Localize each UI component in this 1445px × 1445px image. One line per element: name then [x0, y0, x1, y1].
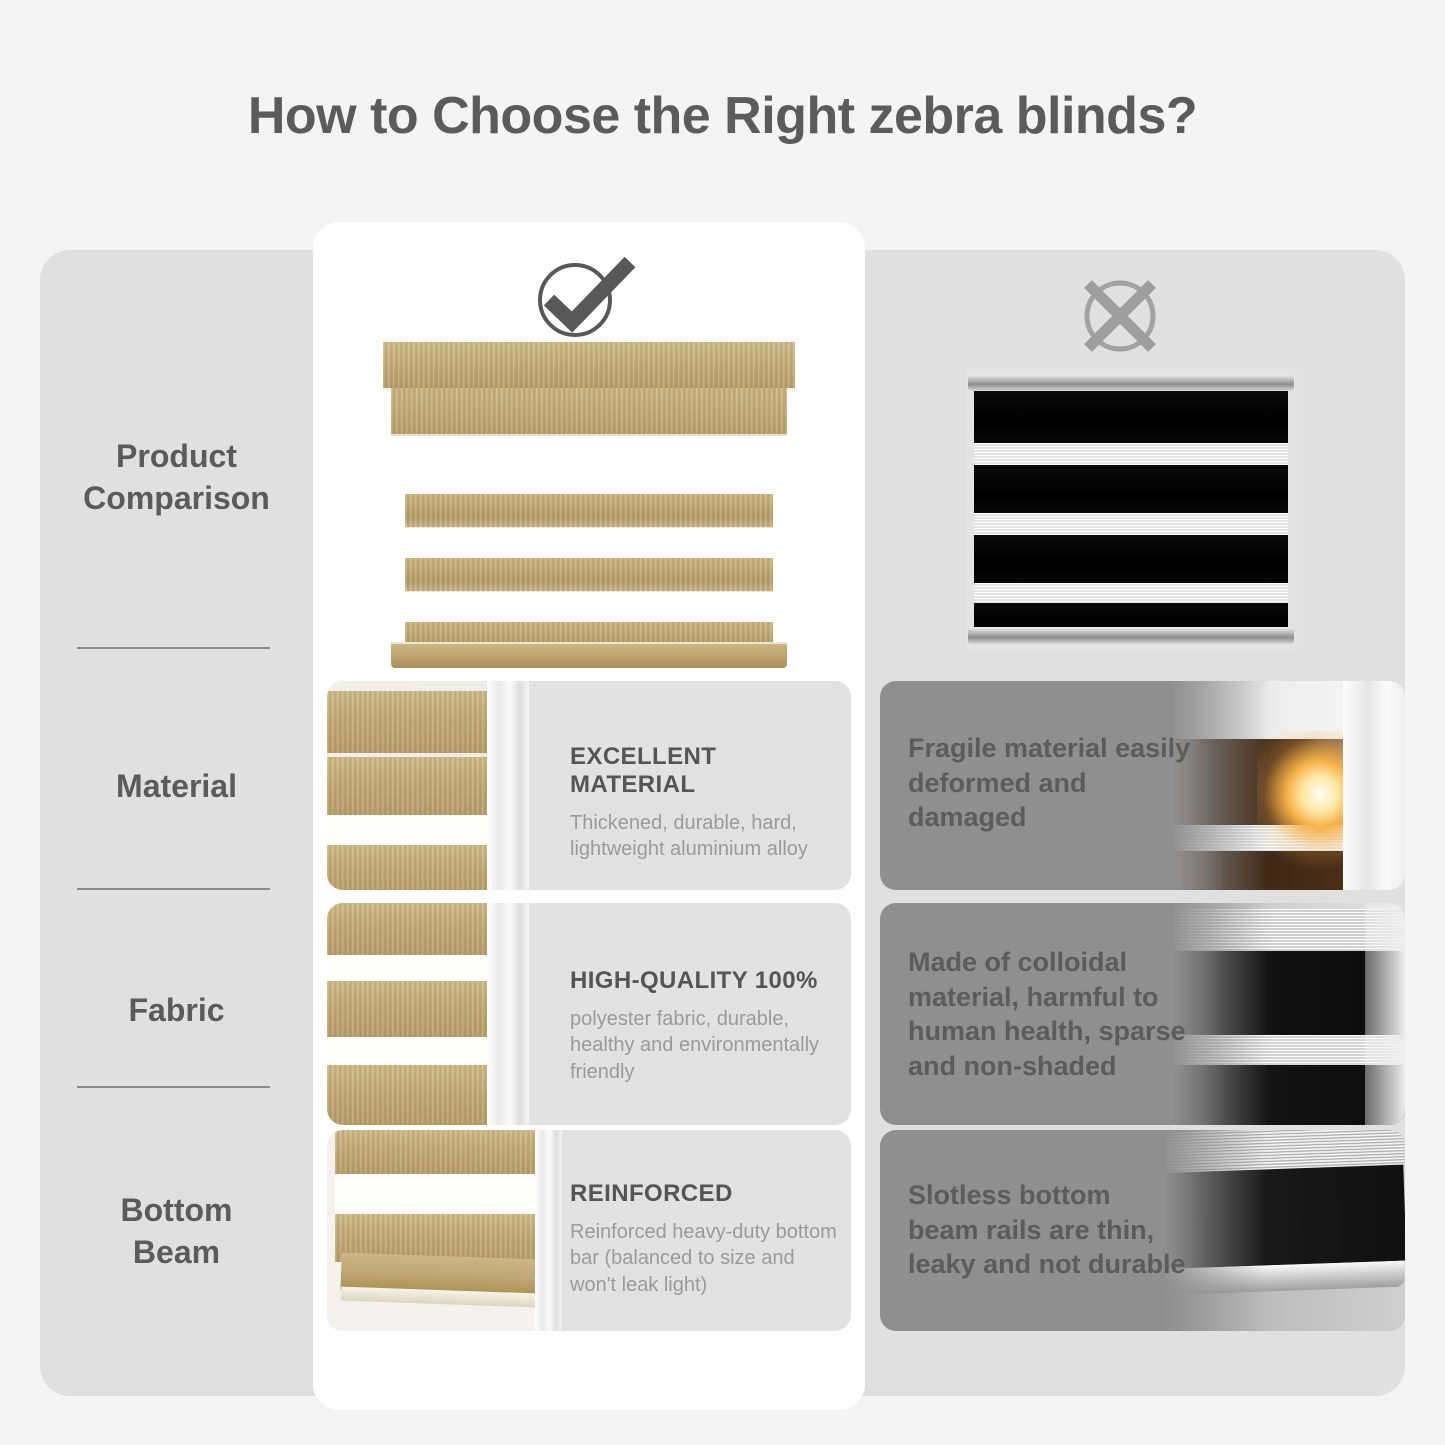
photo-tan-blind-bottom-bar	[327, 1130, 562, 1331]
feature-card-bad-fabric: Made of colloidal material, harmful to h…	[880, 903, 1405, 1125]
blind-bottom-bar	[391, 642, 787, 668]
blind-headrail-lip	[391, 388, 787, 436]
row-label-line1: Material	[40, 766, 313, 808]
row-label-line2: Comparison	[40, 478, 313, 520]
hero-image-black-zebra-blind	[965, 368, 1297, 650]
photo-tan-blind-closeup	[327, 681, 529, 890]
row-divider-1	[77, 647, 270, 649]
blind-top-rail	[968, 374, 1294, 391]
blind-band-opaque	[974, 603, 1288, 630]
feature-card-good-fabric: HIGH-QUALITY 100% polyester fabric, dura…	[327, 903, 851, 1125]
feature-heading: REINFORCED	[570, 1180, 846, 1208]
cross-circle-icon	[1072, 268, 1168, 364]
page-title: How to Choose the Right zebra blinds?	[0, 86, 1445, 146]
feature-card-bad-bottom-beam: Slotless bottom beam rails are thin, lea…	[880, 1130, 1405, 1331]
blind-headrail	[383, 342, 795, 388]
blind-band-opaque	[974, 465, 1288, 513]
feature-text-bad-bottom-beam: Slotless bottom beam rails are thin, lea…	[908, 1178, 1188, 1282]
feature-text-bad-material: Fragile material easily deformed and dam…	[908, 731, 1198, 835]
row-label-line1: Bottom	[40, 1190, 313, 1232]
feature-text-good-fabric: HIGH-QUALITY 100% polyester fabric, dura…	[570, 967, 838, 1085]
feature-heading: EXCELLENT MATERIAL	[570, 743, 838, 799]
feature-card-bad-material: Fragile material easily deformed and dam…	[880, 681, 1405, 890]
row-label-column: Product Comparison Material Fabric Botto…	[40, 250, 313, 1396]
blind-band-sheer	[974, 443, 1288, 465]
feature-heading: HIGH-QUALITY 100%	[570, 967, 838, 995]
row-label-line1: Product	[40, 436, 313, 478]
row-label-bottom-beam: Bottom Beam	[40, 1190, 313, 1273]
photo-tan-blind-fabric	[327, 903, 529, 1125]
blind-band-sheer	[974, 583, 1288, 603]
row-label-product-comparison: Product Comparison	[40, 436, 313, 519]
row-divider-2	[77, 888, 270, 890]
blind-band-opaque	[974, 535, 1288, 583]
row-label-line1: Fabric	[40, 990, 313, 1032]
blind-slat	[405, 558, 773, 592]
blind-band-opaque	[974, 391, 1288, 443]
blind-bottom-rail	[968, 627, 1294, 644]
row-divider-3	[77, 1086, 270, 1088]
feature-card-good-bottom-beam: REINFORCED Reinforced heavy-duty bottom …	[327, 1130, 851, 1331]
check-circle-icon	[527, 252, 637, 342]
feature-body: Reinforced heavy-duty bottom bar (balanc…	[570, 1219, 846, 1298]
feature-card-good-material: EXCELLENT MATERIAL Thickened, durable, h…	[327, 681, 851, 890]
feature-text-bad-fabric: Made of colloidal material, harmful to h…	[908, 945, 1208, 1083]
row-label-fabric: Fabric	[40, 990, 313, 1032]
hero-image-tan-zebra-blind	[383, 342, 795, 672]
feature-text-good-bottom-beam: REINFORCED Reinforced heavy-duty bottom …	[570, 1180, 846, 1298]
row-label-material: Material	[40, 766, 313, 808]
feature-body: polyester fabric, durable, healthy and e…	[570, 1006, 838, 1085]
feature-body: Thickened, durable, hard, lightweight al…	[570, 810, 838, 863]
blind-band-sheer	[974, 513, 1288, 535]
blind-slat	[405, 494, 773, 528]
feature-text-good-material: EXCELLENT MATERIAL Thickened, durable, h…	[570, 743, 838, 863]
infographic-root: How to Choose the Right zebra blinds? Pr…	[0, 0, 1445, 1445]
row-label-line2: Beam	[40, 1232, 313, 1274]
